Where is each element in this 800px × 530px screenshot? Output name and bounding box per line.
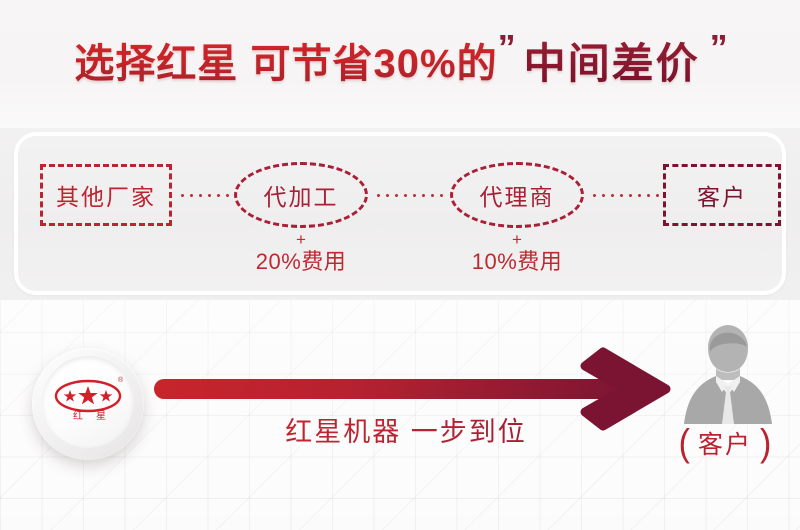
customer-avatar <box>672 322 784 428</box>
flow-node-customer-label: 客户 <box>697 178 747 212</box>
fee-plus-sign-1: + <box>221 232 381 248</box>
customer-label: 客户 <box>698 425 752 461</box>
fee-markup-agent: + 10%费用 <box>437 232 597 276</box>
svg-text:®: ® <box>118 376 124 384</box>
flow-node-customer: 客户 <box>663 164 781 226</box>
bracket-right-icon: ) <box>760 424 771 462</box>
businessman-silhouette-icon <box>672 322 784 428</box>
customer-label-group: ( 客户 ) <box>650 424 800 462</box>
fee-markup-oem: + 20%费用 <box>221 232 381 276</box>
flow-node-oem: 代加工 <box>234 162 368 228</box>
headline-emphasis-text: 中间差价 <box>524 30 700 91</box>
fee-plus-sign-2: + <box>437 232 597 248</box>
connector-dots-3 <box>590 194 660 197</box>
fee-amount-1: 20%费用 <box>221 248 381 276</box>
cost-chain-row: 其他厂家 代加工 代理商 客户 <box>18 150 782 220</box>
hongxing-logo-badge: 红 星 ® <box>32 348 144 460</box>
tagline-text: 红星机器 一步到位 <box>196 410 616 449</box>
quote-close-mark: ” <box>710 30 726 66</box>
quote-open-mark: ” <box>498 30 514 66</box>
connector-dots-1 <box>178 194 230 197</box>
svg-text:红: 红 <box>73 409 83 422</box>
flow-node-other-factory: 其他厂家 <box>40 164 172 226</box>
bracket-left-icon: ( <box>679 424 690 462</box>
headline: 选择红星 可节省30%的 ” 中间差价 ” <box>0 28 800 92</box>
cost-chain-panel: 其他厂家 代加工 代理商 客户 + 20%费用 + 10%费用 <box>14 132 786 295</box>
hongxing-logo-icon: 红 星 ® <box>42 356 134 448</box>
svg-text:星: 星 <box>96 410 106 422</box>
promo-graphic: 选择红星 可节省30%的 ” 中间差价 ” 其他厂家 代加工 代理商 客户 + <box>0 0 800 530</box>
fee-amount-2: 10%费用 <box>437 248 597 276</box>
flow-node-other-factory-label: 其他厂家 <box>56 178 156 212</box>
connector-dots-2 <box>374 194 446 197</box>
flow-node-oem-label: 代加工 <box>264 178 339 212</box>
headline-lead-text: 选择红星 可节省30%的 <box>74 31 497 89</box>
flow-node-agent: 代理商 <box>450 162 584 228</box>
flow-node-agent-label: 代理商 <box>480 178 555 212</box>
hongxing-logo-badge-face: 红 星 ® <box>42 356 134 448</box>
